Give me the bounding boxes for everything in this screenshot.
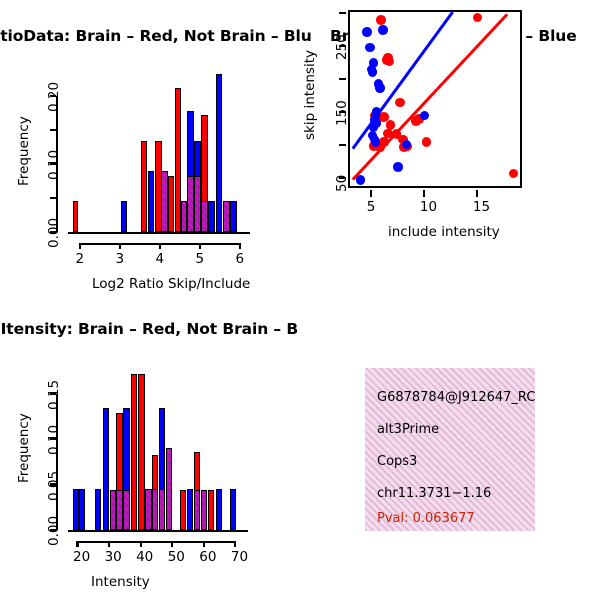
- x-axis-tick: [370, 190, 372, 197]
- scatter-point: [365, 43, 375, 53]
- histogram-bar: [216, 489, 222, 530]
- x-axis-tick-label: 4: [156, 251, 165, 267]
- y-axis-tick-label: 50: [334, 175, 350, 192]
- y-axis-tick-label: 0.20: [46, 82, 62, 112]
- info-line-locus: chr11.3731−1.16: [377, 486, 491, 501]
- x-axis-tick-label: 50: [168, 549, 185, 565]
- histogram-bar: [161, 171, 167, 232]
- info-line-pvalue: Pval: 0.063677: [377, 511, 475, 526]
- x-axis-tick-label: 10: [420, 199, 437, 215]
- scatter-point: [362, 27, 372, 37]
- info-line-probe: G6878784@J912647_RC: [377, 390, 535, 405]
- histogram-bar: [168, 176, 174, 232]
- scatter-point: [422, 137, 432, 147]
- histogram-bar: [73, 489, 79, 530]
- histogram-bar: [187, 176, 193, 232]
- y-axis-tick-label: 0.15: [46, 379, 62, 409]
- y-axis-tick: [339, 78, 346, 80]
- scatter-point: [371, 137, 381, 147]
- histogram-bar: [208, 201, 214, 232]
- x-axis-tick: [119, 243, 121, 249]
- x-axis-tick-label: 70: [231, 549, 248, 565]
- scatter-point: [368, 67, 378, 77]
- x-axis-tick: [476, 190, 478, 197]
- x-axis-title: include intensity: [388, 224, 500, 240]
- histogram-baseline: [68, 530, 248, 532]
- histogram-bar: [194, 490, 200, 530]
- x-axis-tick-label: 20: [73, 549, 90, 565]
- y-axis-line: [56, 394, 58, 531]
- panel-intensity-scatter: Brain – Red, Not Brain – Blue 5101550150…: [300, 0, 600, 300]
- x-axis-tick: [423, 190, 425, 197]
- panel-ratio-histogram: RatioData: Brain – Red, Not Brain – Blu …: [0, 0, 300, 300]
- histogram-bar: [216, 74, 222, 232]
- histogram-bar: [166, 448, 172, 530]
- scatter-clip: [350, 12, 520, 186]
- histogram-bar: [230, 489, 236, 530]
- x-axis-tick: [79, 243, 81, 249]
- scatter-point: [509, 169, 519, 179]
- scatter-point: [376, 15, 386, 25]
- scatter-point: [383, 53, 393, 63]
- histogram-bar: [223, 201, 229, 232]
- histogram-bar: [208, 490, 214, 530]
- y-axis-tick: [339, 12, 346, 14]
- y-axis-tick: [50, 197, 56, 199]
- x-axis-title: Intensity: [91, 574, 150, 590]
- histogram-bar: [159, 489, 165, 530]
- y-axis-tick-label: 0.00: [46, 218, 62, 248]
- x-axis-tick-label: 60: [199, 549, 216, 565]
- x-axis-tick: [140, 541, 142, 547]
- y-axis-tick-label: 0.05: [46, 470, 62, 500]
- figure-canvas: RatioData: Brain – Red, Not Brain – Blu …: [0, 0, 600, 600]
- x-axis-tick: [108, 541, 110, 547]
- histogram-bar: [194, 176, 200, 232]
- histogram-bar: [103, 408, 109, 530]
- y-axis-tick: [50, 129, 56, 131]
- y-axis-title: Frequency: [16, 413, 32, 483]
- histogram-bar: [201, 201, 207, 232]
- x-axis-tick-label: 6: [236, 251, 245, 267]
- panel-intensity-histogram: ne Itensity: Brain – Red, Not Brain – B …: [0, 300, 300, 600]
- histogram-bar: [145, 489, 151, 530]
- scatter-plot: 5101550150250include intensityskip inten…: [300, 0, 600, 300]
- x-axis-tick: [159, 243, 161, 249]
- histogram-bar: [201, 490, 207, 530]
- gene-info-box: G6878784@J912647_RC alt3Prime Cops3 chr1…: [365, 368, 535, 531]
- histogram-bar: [152, 489, 158, 530]
- histogram-baseline: [68, 232, 250, 234]
- scatter-point: [395, 98, 405, 108]
- x-axis-line: [78, 541, 236, 543]
- scatter-point: [356, 175, 366, 185]
- x-axis-tick-label: 30: [105, 549, 122, 565]
- ratio-histogram-plot: 234560.000.100.20Log2 Ratio Skip/Include…: [0, 0, 300, 300]
- histogram-bar: [73, 201, 79, 232]
- y-axis-title: Frequency: [16, 116, 32, 186]
- scatter-point: [375, 83, 385, 93]
- x-axis-tick-label: 40: [136, 549, 153, 565]
- intensity-histogram-plot: 2030405060700.000.050.100.15IntensityFre…: [0, 300, 300, 600]
- histogram-bar: [138, 374, 144, 531]
- scatter-point: [369, 122, 379, 132]
- x-axis-tick: [76, 541, 78, 547]
- y-axis-tick-label: 0.10: [46, 150, 62, 180]
- y-axis-tick: [339, 144, 346, 146]
- histogram-bar: [148, 171, 154, 232]
- histogram-bar: [95, 489, 101, 530]
- scatter-point: [393, 162, 403, 172]
- histogram-bar: [116, 490, 122, 530]
- y-axis-title: skip intensity: [302, 50, 318, 140]
- x-axis-tick-label: 2: [76, 251, 85, 267]
- info-line-event: alt3Prime: [377, 422, 439, 437]
- x-axis-tick-label: 15: [473, 199, 490, 215]
- x-axis-title: Log2 Ratio Skip/Include: [92, 276, 250, 292]
- histogram-bar: [180, 490, 186, 530]
- x-axis-tick-label: 3: [116, 251, 125, 267]
- histogram-bar: [121, 201, 127, 232]
- x-axis-tick: [203, 541, 205, 547]
- histogram-bar: [123, 490, 129, 530]
- histogram-bar: [131, 374, 137, 531]
- x-axis-tick: [199, 243, 201, 249]
- histogram-bar: [230, 201, 236, 232]
- y-axis-tick-label: 0.00: [46, 516, 62, 546]
- y-axis-tick-label: 150: [334, 100, 350, 126]
- y-axis-tick-label: 0.10: [46, 425, 62, 455]
- scatter-frame: [348, 10, 522, 188]
- x-axis-tick: [171, 541, 173, 547]
- scatter-point: [420, 111, 430, 121]
- histogram-bars: [0, 0, 300, 300]
- histogram-bar: [141, 141, 147, 232]
- y-axis-tick-label: 250: [334, 35, 350, 61]
- x-axis-tick: [239, 243, 241, 249]
- x-axis-tick: [234, 541, 236, 547]
- x-axis-tick-label: 5: [196, 251, 205, 267]
- info-line-gene: Cops3: [377, 454, 417, 469]
- scatter-point: [473, 13, 483, 23]
- x-axis-tick-label: 5: [367, 199, 376, 215]
- histogram-bar: [110, 490, 116, 530]
- scatter-point: [378, 25, 388, 35]
- histogram-bar: [79, 489, 85, 530]
- histogram-bar: [187, 489, 193, 530]
